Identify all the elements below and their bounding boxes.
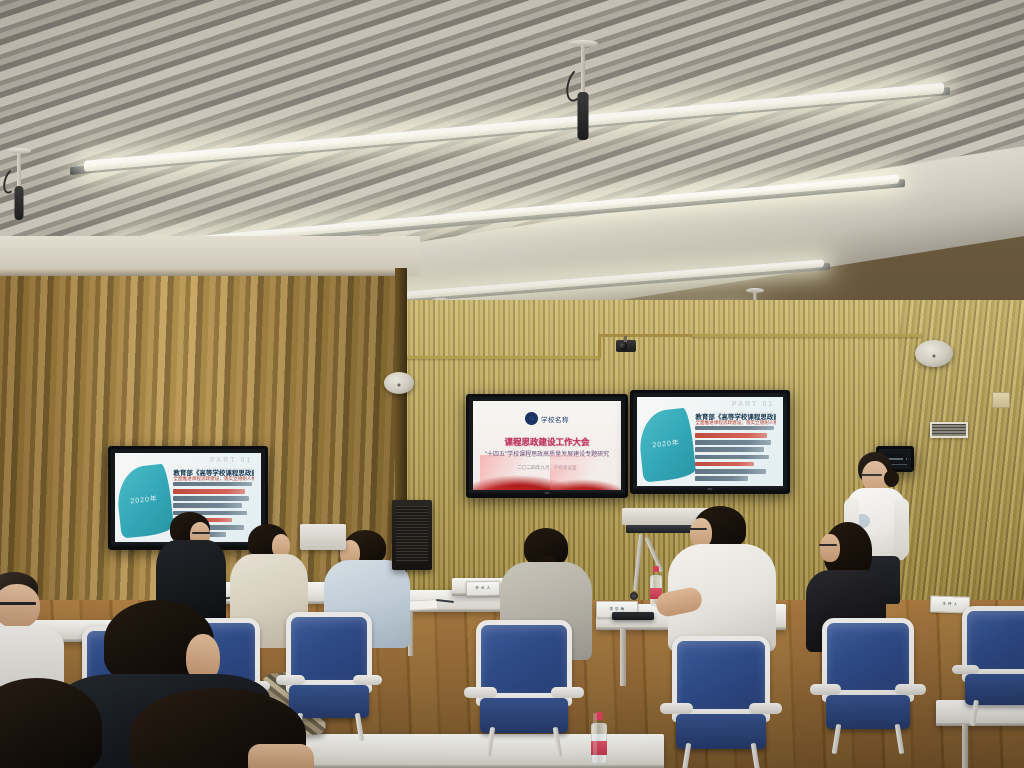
wall-speaker-right [915,340,953,367]
wall-trim-notch [598,334,694,358]
attendee-right-woman-glasses-icon [819,544,837,546]
ceiling-camera-center [563,40,603,145]
table-leg [620,628,626,686]
attendee-far-left-edge [0,572,66,692]
wall-trim-line-right [692,334,922,337]
wall-air-vent [930,422,968,438]
water-bottle-highlight [593,713,597,763]
side-table-left [300,524,346,550]
attendee-right-man [668,506,778,656]
right-screen-body [695,426,777,482]
wall-speaker-left [384,372,414,394]
curtain-rail [0,268,400,276]
attendee-mid-left-1-glasses-icon [192,532,210,534]
chair-right-1[interactable] [672,636,770,768]
slide-screen-glare [517,451,598,473]
chair-far-right[interactable] [962,606,1024,724]
table-leg [962,724,968,768]
presenter-hair-bun [884,470,899,487]
chair-right-2[interactable] [822,618,914,750]
slide-heading: 课程思政建设工作大会 [504,436,589,448]
university-seal-icon [525,412,538,425]
right-screen-leaf-shape: 2020年 [637,407,696,482]
conference-room-photo: PART 01 POLICY BACKGROUND 2020年 教育部《高等学校… [0,0,1024,768]
right-screen-leaf-year: 2020年 [652,437,680,450]
presenter-glasses-icon [861,474,882,476]
attendee-far-left-edge-glasses-icon [0,602,36,605]
wall-camera [616,336,636,354]
chair-center-1[interactable] [476,620,572,754]
attendee-foreground-hand [248,744,314,768]
main-display-right-panel[interactable]: PART 01 POLICY BACKGROUND 2020年 教育部《高等学校… [630,390,790,494]
name-placard-1: 参 会 人 [466,581,500,597]
right-screen-part-label: PART 01 [732,401,774,408]
floor-speaker-grille [396,506,428,562]
left-screen-part-label: PART 01 [210,457,252,464]
main-display-left-panel[interactable]: 学校名称 课程思政建设工作大会 "十四五"学校课程思政高质量发展建设专题研究 二… [466,394,628,498]
slide-university-logo: 学校名称 [525,412,569,425]
wall-access-plate [992,392,1010,408]
attendee-foreground-2 [0,678,112,768]
left-screen-leaf-year: 2020年 [130,493,158,506]
slide-university-name: 学校名称 [541,414,569,424]
attendee-foreground-2-hair [0,678,102,768]
presenter-arm-right [894,498,909,558]
attendee-right-woman-head [820,534,840,562]
ceiling-camera-left [2,148,36,226]
attendee-far-left-edge-head [0,584,40,628]
attendee-right-man-glasses-icon [688,528,707,530]
wall-trim-line-left [400,356,600,359]
laptop-closed[interactable] [612,612,654,620]
